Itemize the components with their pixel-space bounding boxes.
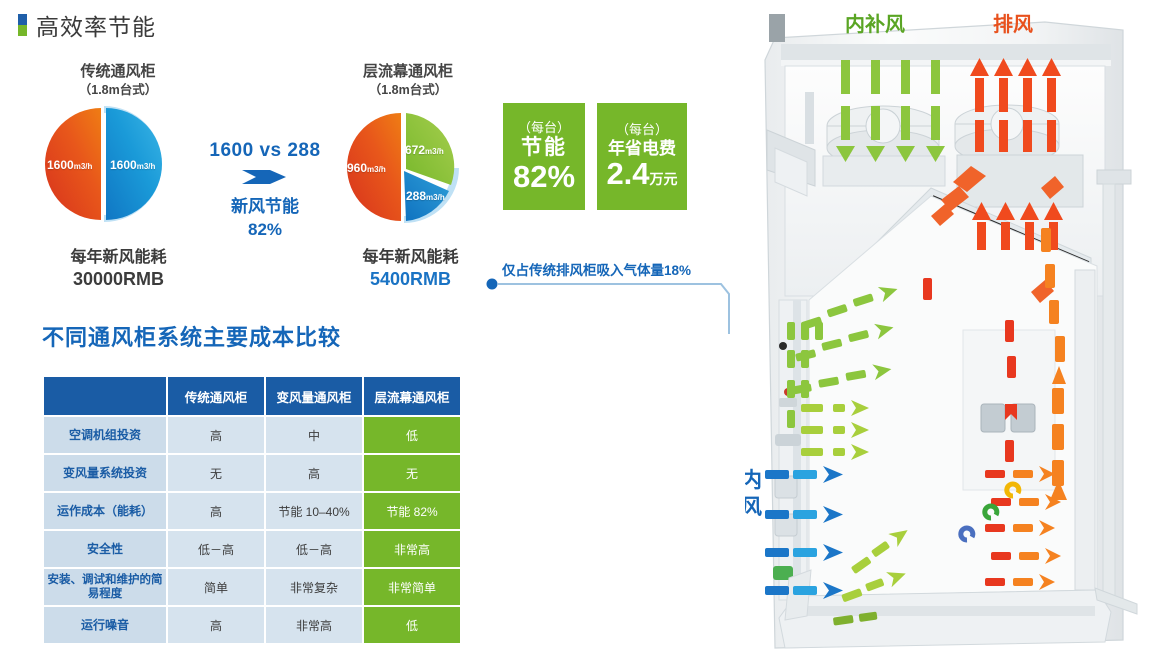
table-head: 传统通风柜 变风量通风柜 层流幕通风柜 xyxy=(44,377,460,415)
cell-value-best: 非常简单 xyxy=(364,569,460,605)
badge-1-top: （每台） xyxy=(518,120,570,136)
cell-value: 非常高 xyxy=(266,607,362,643)
pie-left-footer-line1: 每年新风能耗 xyxy=(26,248,211,268)
cell-value-best: 低 xyxy=(364,607,460,643)
cell-value: 高 xyxy=(168,607,264,643)
pie-right-caption: 层流幕通风柜 （1.8m台式） xyxy=(318,62,498,98)
table-header-laminar: 层流幕通风柜 xyxy=(364,377,460,415)
callout-leader-line xyxy=(485,276,735,336)
table-row: 空调机组投资 高 中 低 xyxy=(44,417,460,453)
fume-hood-illustration: 内补风 排风 室内 新风 xyxy=(745,0,1149,660)
row-label: 运作成本（能耗） xyxy=(44,493,166,529)
pie-right-label-supply: 672m3/h xyxy=(405,143,444,157)
supply-air-arrows-left xyxy=(801,400,869,460)
pie-left-subtitle: （1.8m台式） xyxy=(28,82,208,98)
table-row: 安装、调试和维护的简易程度 简单 非常复杂 非常简单 xyxy=(44,569,460,605)
pie-right-subtitle: （1.8m台式） xyxy=(318,82,498,98)
cell-value-best: 低 xyxy=(364,417,460,453)
cell-value-best: 无 xyxy=(364,455,460,491)
pie-chart-traditional: 1600m3/h 1600m3/h xyxy=(42,102,174,230)
pie-left-title: 传统通风柜 xyxy=(28,62,208,82)
label-indoor-line2: 新风 xyxy=(745,495,762,522)
label-indoor-line1: 室内 xyxy=(745,468,762,495)
table-header-vav: 变风量通风柜 xyxy=(266,377,362,415)
table-row: 运作成本（能耗） 高 节能 10–40% 节能 82% xyxy=(44,493,460,529)
pie-left-footer-line2: 30000RMB xyxy=(26,268,211,291)
badge-yearly-savings: （每台） 年省电费 2.4万元 xyxy=(597,103,687,210)
fume-hood-diagram xyxy=(745,0,1149,660)
badge-1-big: 82% xyxy=(513,161,575,194)
page-header: 高效率节能 xyxy=(18,8,156,42)
cell-value-best: 非常高 xyxy=(364,531,460,567)
page-title: 高效率节能 xyxy=(36,8,156,42)
pie-left-label-supply: 1600m3/h xyxy=(110,158,155,172)
badge-energy-saving: （每台） 节能 82% xyxy=(503,103,585,210)
infographic-stage: 高效率节能 传统通风柜 （1.8m台式） xyxy=(0,0,1149,660)
pie-right-footer-line1: 每年新风能耗 xyxy=(318,248,503,268)
pie-chart-laminar: 960m3/h 672m3/h 288m3/h xyxy=(341,105,469,230)
table-body: 空调机组投资 高 中 低 变风量系统投资 无 高 无 运作成本（能耗） 高 节能… xyxy=(44,417,460,643)
cell-value-best: 节能 82% xyxy=(364,493,460,529)
cell-value: 高 xyxy=(266,455,362,491)
cell-value: 非常复杂 xyxy=(266,569,362,605)
row-label: 空调机组投资 xyxy=(44,417,166,453)
badge-1-mid: 节能 xyxy=(521,136,567,160)
row-label: 安装、调试和维护的简易程度 xyxy=(44,569,166,605)
pie-right-title: 层流幕通风柜 xyxy=(318,62,498,82)
pie-left-caption: 传统通风柜 （1.8m台式） xyxy=(28,62,208,98)
section-title-cost-comparison: 不同通风柜系统主要成本比较 xyxy=(42,320,341,352)
cell-value: 低－高 xyxy=(168,531,264,567)
arrow-right-icon xyxy=(240,166,290,188)
cost-comparison-table: 传统通风柜 变风量通风柜 层流幕通风柜 空调机组投资 高 中 低 变风量系统投资… xyxy=(42,375,462,645)
table-row: 安全性 低－高 低－高 非常高 xyxy=(44,531,460,567)
label-indoor-fresh-air: 室内 新风 xyxy=(745,468,762,522)
pie-left-label-exhaust: 1600m3/h xyxy=(47,158,92,172)
table-row: 运行噪音 高 非常高 低 xyxy=(44,607,460,643)
cell-value: 简单 xyxy=(168,569,264,605)
cell-value: 低－高 xyxy=(266,531,362,567)
table-header-corner xyxy=(44,377,166,415)
pie-right-label-exhaust: 960m3/h xyxy=(347,161,386,175)
pie-right-label-fresh: 288m3/h xyxy=(406,189,445,203)
cell-value: 高 xyxy=(168,417,264,453)
compare-block: 1600 vs 288 新风节能 82% xyxy=(190,140,340,242)
cell-value: 节能 10–40% xyxy=(266,493,362,529)
label-supply-air: 内补风 xyxy=(845,8,905,37)
compare-headline: 1600 vs 288 xyxy=(190,140,340,162)
row-label: 运行噪音 xyxy=(44,607,166,643)
cell-value: 中 xyxy=(266,417,362,453)
pie-right-footer: 每年新风能耗 5400RMB xyxy=(318,248,503,292)
table-header-row: 传统通风柜 变风量通风柜 层流幕通风柜 xyxy=(44,377,460,415)
cell-value: 高 xyxy=(168,493,264,529)
pie-right-footer-line2: 5400RMB xyxy=(318,268,503,291)
badge-2-big: 2.4万元 xyxy=(606,158,677,191)
cell-value: 无 xyxy=(168,455,264,491)
table-header-traditional: 传统通风柜 xyxy=(168,377,264,415)
label-exhaust-air: 排风 xyxy=(993,8,1033,37)
table-row: 变风量系统投资 无 高 无 xyxy=(44,455,460,491)
row-label: 安全性 xyxy=(44,531,166,567)
badge-2-top: （每台） xyxy=(616,122,668,138)
header-mark-icon xyxy=(18,14,27,36)
pie-left-footer: 每年新风能耗 30000RMB xyxy=(26,248,211,292)
compare-line2: 82% xyxy=(190,219,340,242)
row-label: 变风量系统投资 xyxy=(44,455,166,491)
compare-line1: 新风节能 xyxy=(190,196,340,219)
